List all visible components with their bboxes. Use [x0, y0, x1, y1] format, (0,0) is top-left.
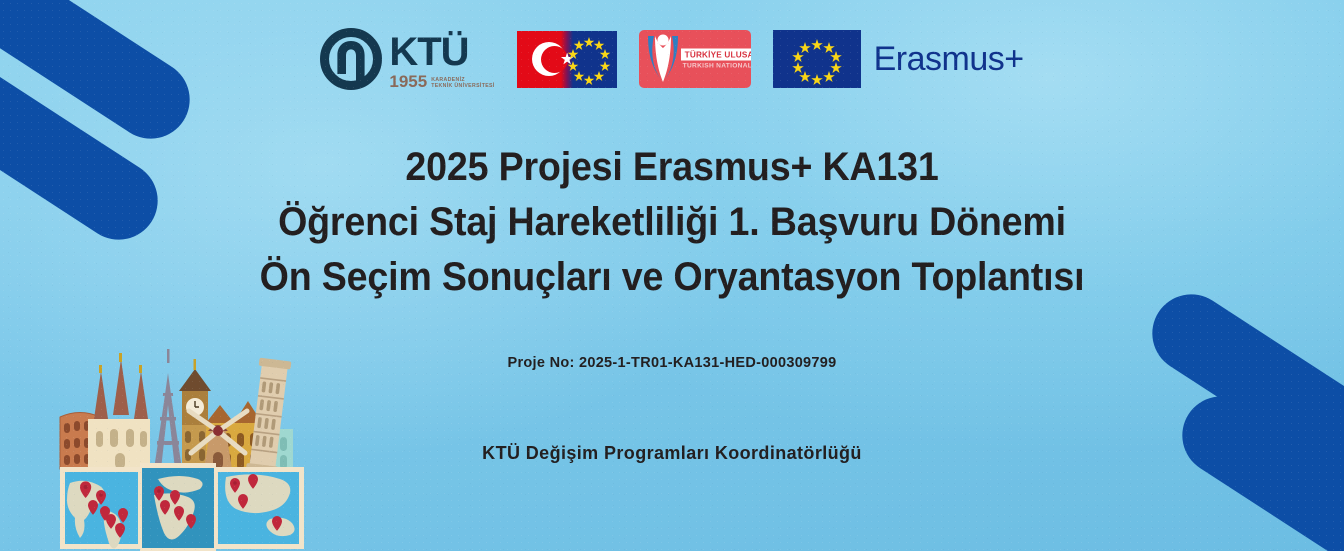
folded-world-map	[60, 463, 304, 551]
title-line-1: 2025 Projesi Erasmus+ KA131	[40, 140, 1303, 195]
page-title: 2025 Projesi Erasmus+ KA131 Öğrenci Staj…	[0, 140, 1344, 306]
ktu-emblem-icon	[320, 28, 382, 90]
cathedral-icon	[88, 353, 150, 469]
agency-title-tr: TÜRKİYE ULUSAL AJANSI	[681, 49, 751, 61]
erasmus-announcement-banner: KTÜ 1955 KARADENİZ TEKNİK ÜNİVERSİTESİ	[0, 0, 1344, 551]
turkey-eu-flag	[517, 31, 617, 88]
ktu-wordmark-block: KTÜ 1955 KARADENİZ TEKNİK ÜNİVERSİTESİ	[389, 32, 494, 90]
turkish-national-agency-text: TÜRKİYE ULUSAL AJANSI TURKISH NATIONAL A…	[681, 49, 751, 70]
travel-world-map-illustration	[58, 319, 308, 551]
crescent-icon	[532, 42, 566, 76]
diagonal-bar-bottom-1	[1137, 279, 1344, 524]
turkish-national-agency-graphic: TÜRKİYE ULUSAL AJANSI TURKISH NATIONAL A…	[639, 30, 751, 88]
eiffel-tower-icon	[154, 349, 182, 469]
ktu-wordmark: KTÜ	[389, 32, 468, 72]
eu-flag-stars-icon	[773, 30, 861, 88]
title-line-2: Öğrenci Staj Hareketliliği 1. Başvuru Dö…	[40, 195, 1303, 250]
ktu-logo: KTÜ 1955 KARADENİZ TEKNİK ÜNİVERSİTESİ	[320, 28, 494, 90]
ktu-subtitle-block: 1955 KARADENİZ TEKNİK ÜNİVERSİTESİ	[389, 73, 494, 90]
erasmus-plus-logo: Erasmus+	[773, 30, 1024, 88]
turkish-national-agency-logo: TÜRKİYE ULUSAL AJANSI TURKISH NATIONAL A…	[639, 30, 751, 88]
eu-flag-icon	[773, 30, 861, 88]
ktu-university-name: KARADENİZ TEKNİK ÜNİVERSİTESİ	[431, 78, 494, 90]
title-line-3: Ön Seçim Sonuçları ve Oryantasyon Toplan…	[40, 250, 1303, 305]
erasmus-wordmark: Erasmus+	[874, 40, 1024, 79]
agency-title-en: TURKISH NATIONAL AGENCY	[681, 63, 751, 70]
tulip-figure-icon	[641, 30, 685, 88]
diagonal-bar-bottom-2	[1167, 381, 1344, 551]
ktu-university-name-line2: TEKNİK ÜNİVERSİTESİ	[431, 84, 494, 90]
turkey-eu-flag-graphic	[517, 31, 617, 88]
logo-row: KTÜ 1955 KARADENİZ TEKNİK ÜNİVERSİTESİ	[0, 28, 1344, 90]
ktu-founding-year: 1955	[389, 73, 427, 90]
eu-stars-icon	[563, 31, 615, 88]
